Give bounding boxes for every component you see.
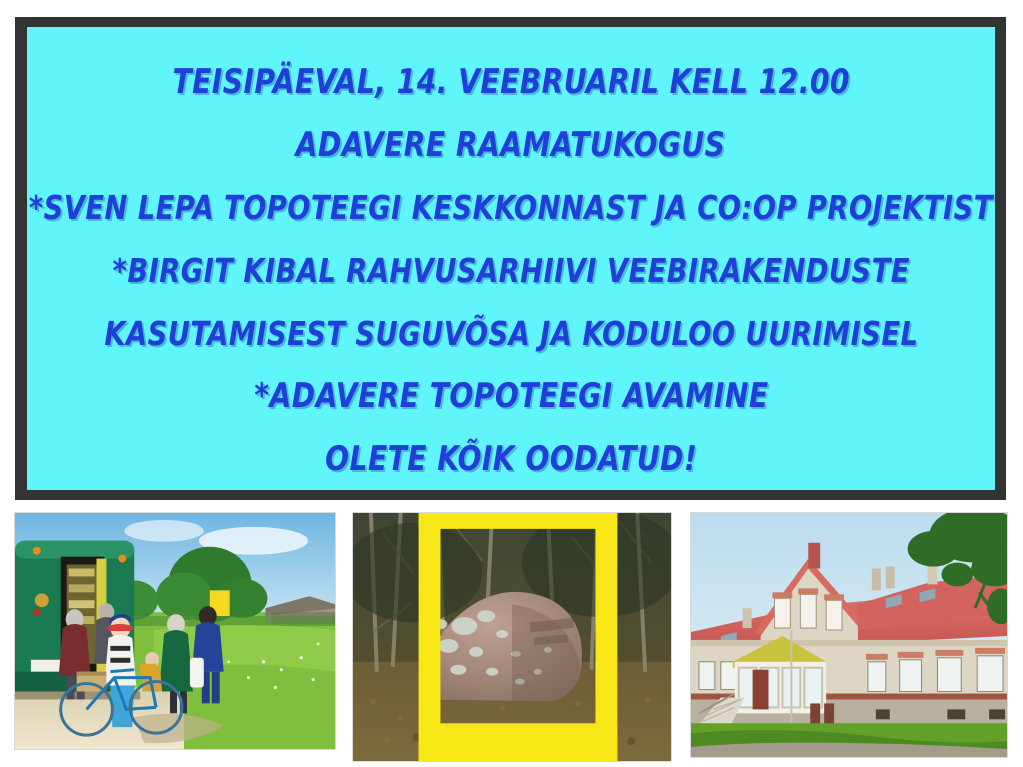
photo-adavere-manor xyxy=(690,512,1008,758)
announcement-line-opening: *ADAVERE TOPOTEEGI AVAMINE xyxy=(254,365,768,428)
poster-root: TEISIPÄEVAL, 14. VEEBRUARIL KELL 12.00 A… xyxy=(0,0,1023,767)
announcement-line-talk-1: *SVEN LEPA TOPOTEEGI KESKKONNAST JA CO:O… xyxy=(29,176,993,239)
announcement-banner: TEISIPÄEVAL, 14. VEEBRUARIL KELL 12.00 A… xyxy=(27,27,995,490)
announcement-line-talk-2b: KASUTAMISEST SUGUVÕSA JA KODULOO UURIMIS… xyxy=(104,302,918,365)
photo-mobile-library-bus xyxy=(14,512,336,750)
memorial-boulder-illustration xyxy=(353,513,671,761)
photo-strip xyxy=(0,512,1023,767)
announcement-line-date: TEISIPÄEVAL, 14. VEEBRUARIL KELL 12.00 xyxy=(172,51,849,114)
announcement-banner-frame: TEISIPÄEVAL, 14. VEEBRUARIL KELL 12.00 A… xyxy=(15,17,1006,500)
announcement-line-talk-2a: *BIRGIT KIBAL RAHVUSARHIIVI VEEBIRAKENDU… xyxy=(112,239,909,302)
adavere-manor-illustration xyxy=(691,513,1007,757)
announcement-line-venue: ADAVERE RAAMATUKOGUS xyxy=(296,114,726,177)
photo-memorial-boulder xyxy=(352,512,672,762)
announcement-line-welcome: OLETE KÕIK OODATUD! xyxy=(325,427,697,490)
mobile-library-bus-illustration xyxy=(15,513,335,749)
